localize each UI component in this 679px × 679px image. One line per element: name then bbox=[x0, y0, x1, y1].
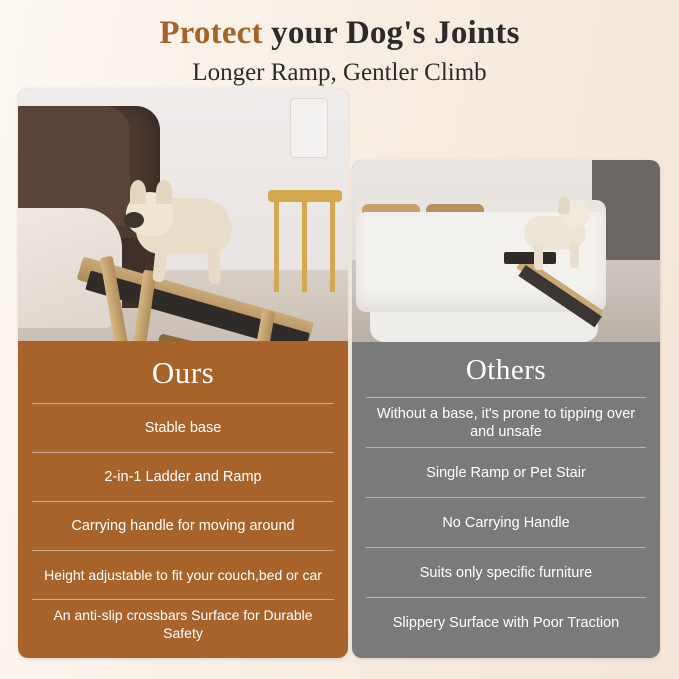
page-title-rest: your Dog's Joints bbox=[263, 15, 520, 51]
ours-feature-item: 2-in-1 Ladder and Ramp bbox=[32, 452, 334, 501]
ours-table-leg bbox=[330, 200, 335, 292]
others-panel: Others Without a base, it's prone to tip… bbox=[352, 160, 660, 658]
ours-product-photo bbox=[18, 88, 348, 341]
ours-dog-ear bbox=[130, 180, 146, 204]
others-product-photo bbox=[352, 160, 660, 342]
ours-feature-item: Carrying handle for moving around bbox=[32, 501, 334, 550]
page-title: Protect your Dog's Joints bbox=[0, 12, 679, 54]
heading-block: Protect your Dog's Joints Longer Ramp, G… bbox=[0, 12, 679, 90]
ours-title: Ours bbox=[18, 341, 348, 403]
ours-feature-item: An anti-slip crossbars Surface for Durab… bbox=[32, 599, 334, 648]
ours-feature-item: Height adjustable to fit your couch,bed … bbox=[32, 550, 334, 599]
others-scene bbox=[352, 160, 660, 342]
others-feature-item: No Carrying Handle bbox=[366, 497, 646, 547]
ours-panel: Ours Stable base 2-in-1 Ladder and Ramp … bbox=[18, 88, 348, 658]
others-feature-item: Suits only specific furniture bbox=[366, 547, 646, 597]
page-title-accent: Protect bbox=[159, 15, 262, 51]
ours-scene bbox=[18, 88, 348, 341]
others-feature-item: Without a base, it's prone to tipping ov… bbox=[366, 397, 646, 447]
ours-feature-list: Stable base 2-in-1 Ladder and Ramp Carry… bbox=[18, 403, 348, 648]
others-dog-leg bbox=[534, 244, 543, 270]
ours-dog-leg bbox=[207, 248, 221, 285]
page-subtitle: Longer Ramp, Gentler Climb bbox=[0, 56, 679, 90]
product-comparison-page: Protect your Dog's Joints Longer Ramp, G… bbox=[0, 0, 679, 679]
others-feature-list: Without a base, it's prone to tipping ov… bbox=[352, 397, 660, 647]
others-feature-item: Slippery Surface with Poor Traction bbox=[366, 597, 646, 647]
ours-dog-ear bbox=[156, 180, 172, 204]
ours-table-leg bbox=[302, 200, 307, 292]
others-dog-ear bbox=[558, 196, 570, 214]
others-top-step bbox=[504, 252, 556, 264]
ours-table-leg bbox=[274, 200, 279, 292]
others-feature-item: Single Ramp or Pet Stair bbox=[366, 447, 646, 497]
others-dog-leg bbox=[570, 242, 579, 268]
others-title: Others bbox=[352, 342, 660, 397]
ours-side-table bbox=[268, 134, 342, 284]
ours-feature-item: Stable base bbox=[32, 403, 334, 452]
ours-dog-snout bbox=[124, 212, 144, 228]
